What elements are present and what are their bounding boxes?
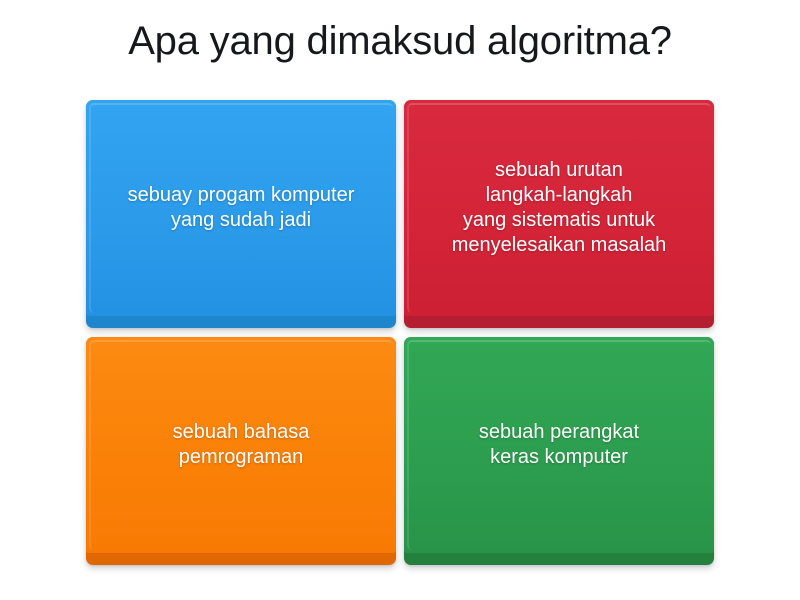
quiz-stage: Apa yang dimaksud algoritma? sebuay prog…: [0, 0, 800, 600]
answer-option-a[interactable]: sebuay progam komputer yang sudah jadi: [86, 100, 396, 328]
answer-option-a-label: sebuay progam komputer yang sudah jadi: [86, 183, 396, 245]
answer-option-c[interactable]: sebuah bahasa pemrograman: [86, 337, 396, 565]
question-title: Apa yang dimaksud algoritma?: [0, 14, 800, 68]
answer-option-d-label: sebuah perangkat keras komputer: [404, 420, 714, 482]
answer-option-c-label: sebuah bahasa pemrograman: [86, 420, 396, 482]
answer-option-b-label: sebuah urutan langkah-langkah yang siste…: [404, 158, 714, 270]
answer-option-b[interactable]: sebuah urutan langkah-langkah yang siste…: [404, 100, 714, 328]
answer-options-grid: sebuay progam komputer yang sudah jadi s…: [86, 100, 714, 565]
answer-option-d[interactable]: sebuah perangkat keras komputer: [404, 337, 714, 565]
